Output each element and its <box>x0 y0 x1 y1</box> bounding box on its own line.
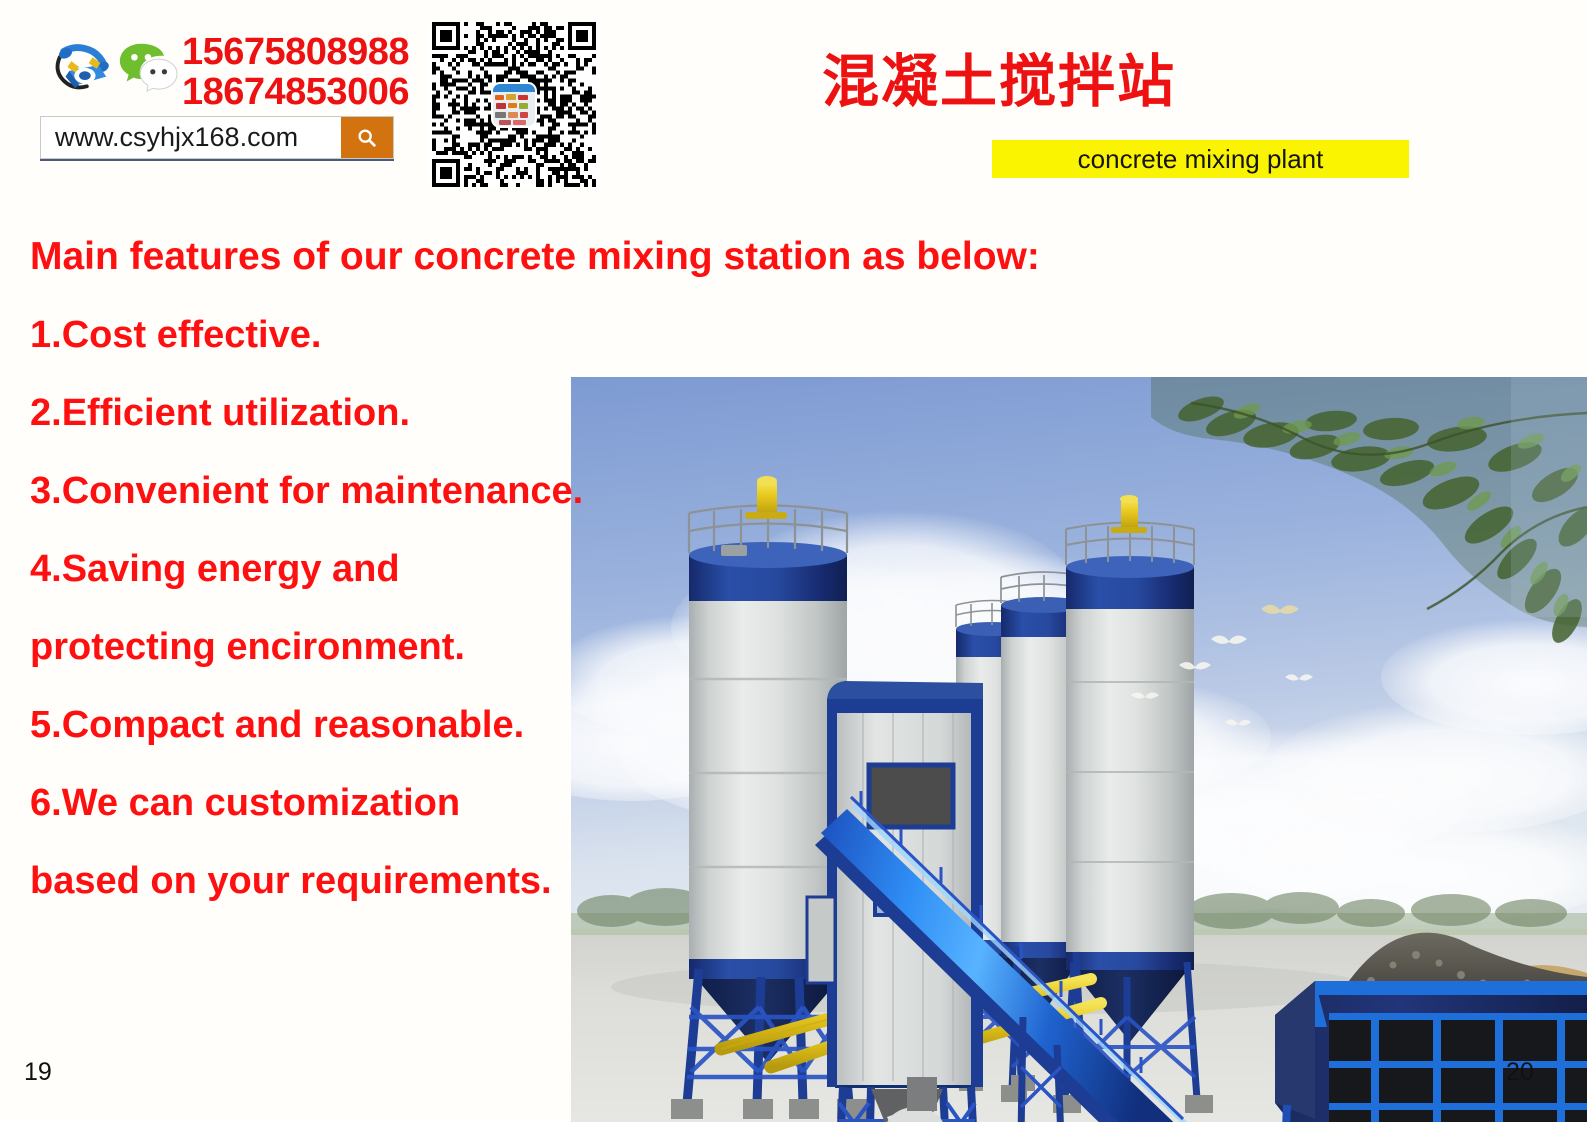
plant-illustration <box>571 377 1587 1122</box>
telephone-icon <box>50 34 112 96</box>
qr-code-logo-icon <box>493 84 535 126</box>
contact-icons <box>50 34 178 96</box>
page-title-english: concrete mixing plant <box>1078 144 1324 175</box>
wechat-icon <box>116 34 178 96</box>
features-heading: Main features of our concrete mixing sta… <box>30 218 1330 296</box>
website-url-bar[interactable]: www.csyhjx168.com <box>40 116 394 159</box>
page-number-left: 19 <box>24 1058 52 1087</box>
phone-numbers: 15675808988 18674853006 <box>182 32 409 113</box>
slide-root: 15675808988 18674853006 www.csyhjx168.co… <box>0 0 1587 1122</box>
page-title-english-box: concrete mixing plant <box>992 140 1409 178</box>
phone-number-2: 18674853006 <box>182 72 409 112</box>
concrete-plant-photo <box>571 377 1587 1122</box>
search-button[interactable] <box>341 117 393 158</box>
page-number-right: 20 <box>1506 1058 1534 1087</box>
feature-item-1: 1.Cost effective. <box>30 296 1330 374</box>
search-icon <box>356 127 378 149</box>
page-title-chinese: 混凝土搅拌站 <box>822 36 1176 118</box>
qr-code[interactable] <box>428 22 600 187</box>
website-url-text: www.csyhjx168.com <box>41 117 341 158</box>
phone-number-1: 15675808988 <box>182 32 409 72</box>
